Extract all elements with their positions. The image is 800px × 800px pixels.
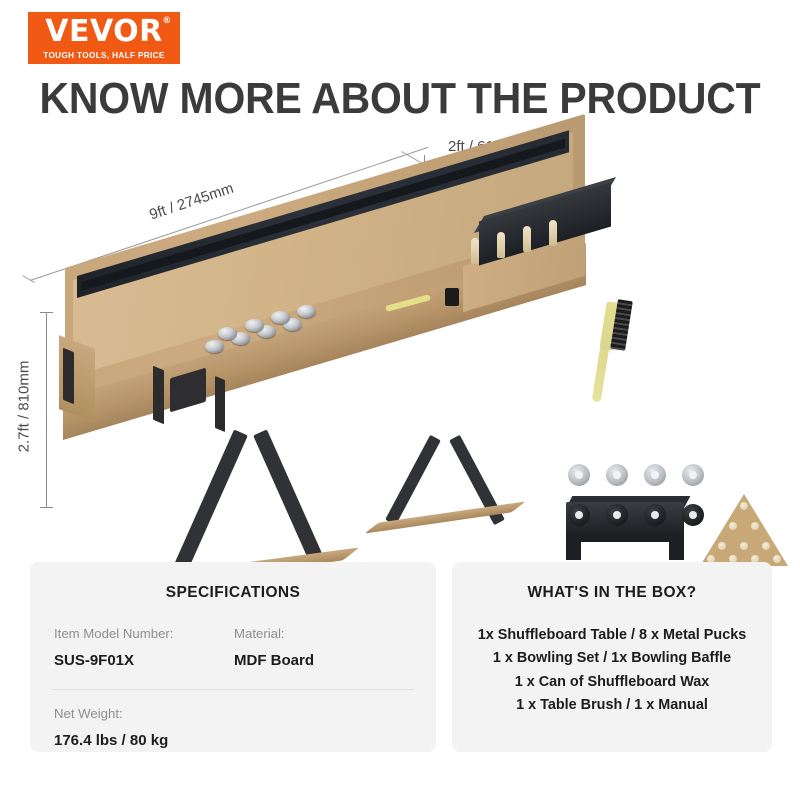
bowling-pin <box>523 226 531 252</box>
table-brush-handle-icon <box>592 346 610 403</box>
vevor-logo: VEVOR® TOUGH TOOLS, HALF PRICE <box>28 12 180 64</box>
box-content-line: 1 x Table Brush / 1 x Manual <box>452 694 772 717</box>
box-content-line: 1x Shuffleboard Table / 8 x Metal Pucks <box>452 624 772 647</box>
triangle-marker <box>729 522 737 530</box>
metal-puck-silver <box>606 464 628 486</box>
metal-puck-black <box>606 504 628 526</box>
product-illustration: 9ft / 2745mm 2ft / 610mm 2.7ft / 810mm <box>0 130 800 550</box>
wax-can-on-table <box>445 288 459 306</box>
triangle-marker <box>751 522 759 530</box>
height-dimension-cap-top <box>40 312 53 313</box>
spec-label: Material: <box>234 626 384 641</box>
specifications-title: SPECIFICATIONS <box>30 584 436 602</box>
table-puck <box>205 340 224 353</box>
box-content-line: 1 x Bowling Set / 1x Bowling Baffle <box>452 647 772 670</box>
corner-bracket-3 <box>215 376 225 432</box>
triangle-marker <box>740 502 748 510</box>
table-puck <box>245 319 264 332</box>
spec-field-material: Material: MDF Board <box>234 626 384 669</box>
whats-in-the-box-title: WHAT'S IN THE BOX? <box>452 584 772 602</box>
triangle-marker <box>718 542 726 550</box>
spec-label: Item Model Number: <box>54 626 204 641</box>
table-puck <box>218 327 237 340</box>
metal-puck-silver <box>568 464 590 486</box>
metal-puck-silver <box>644 464 666 486</box>
spec-value: 176.4 lbs / 80 kg <box>54 732 436 749</box>
height-dimension-cap-bottom <box>40 507 53 508</box>
brand-name-text: VEVOR <box>45 14 163 49</box>
leg-front-left-bar <box>173 429 248 572</box>
bowling-pin <box>549 220 557 246</box>
whats-in-the-box-list: 1x Shuffleboard Table / 8 x Metal Pucks … <box>452 624 772 717</box>
bowling-baffle-leg-right <box>669 538 684 560</box>
specifications-row-2: Net Weight: 176.4 lbs / 80 kg <box>54 706 436 749</box>
specifications-panel: SPECIFICATIONS Item Model Number: SUS-9F… <box>30 562 436 752</box>
triangle-marker <box>773 555 781 563</box>
triangle-marker <box>762 542 770 550</box>
brand-name: VEVOR® <box>45 17 163 47</box>
specifications-row-1: Item Model Number: SUS-9F01X Material: M… <box>54 626 436 669</box>
whats-in-the-box-panel: WHAT'S IN THE BOX? 1x Shuffleboard Table… <box>452 562 772 752</box>
spec-field-net-weight: Net Weight: 176.4 lbs / 80 kg <box>54 706 436 749</box>
product-infographic: VEVOR® TOUGH TOOLS, HALF PRICE KNOW MORE… <box>0 0 800 800</box>
table-puck <box>297 305 316 318</box>
spec-field-item-model-number: Item Model Number: SUS-9F01X <box>54 626 204 669</box>
leg-front-right-bar <box>253 429 328 572</box>
page-title: KNOW MORE ABOUT THE PRODUCT <box>28 74 772 124</box>
metal-puck-black <box>644 504 666 526</box>
box-content-line: 1 x Can of Shuffleboard Wax <box>452 671 772 694</box>
spec-value: MDF Board <box>234 652 384 669</box>
spec-label: Net Weight: <box>54 706 436 721</box>
registered-trademark-icon: ® <box>162 17 172 26</box>
corner-bracket-1 <box>63 348 74 404</box>
bowling-baffle-leg-left <box>566 538 581 560</box>
corner-bracket-2 <box>153 366 164 424</box>
brand-tagline: TOUGH TOOLS, HALF PRICE <box>43 51 164 60</box>
bowling-pin <box>471 238 479 264</box>
spec-value: SUS-9F01X <box>54 652 204 669</box>
leg-rear-left-bar <box>385 435 441 525</box>
height-dimension-line <box>46 312 47 508</box>
triangle-marker <box>740 542 748 550</box>
metal-puck-black <box>682 504 704 526</box>
shuffleboard-table-image <box>55 160 575 550</box>
metal-puck-black <box>568 504 590 526</box>
metal-puck-silver <box>682 464 704 486</box>
specifications-divider <box>52 689 414 690</box>
bowling-pin <box>497 232 505 258</box>
height-dimension-label: 2.7ft / 810mm <box>15 361 32 453</box>
table-puck <box>271 311 290 324</box>
